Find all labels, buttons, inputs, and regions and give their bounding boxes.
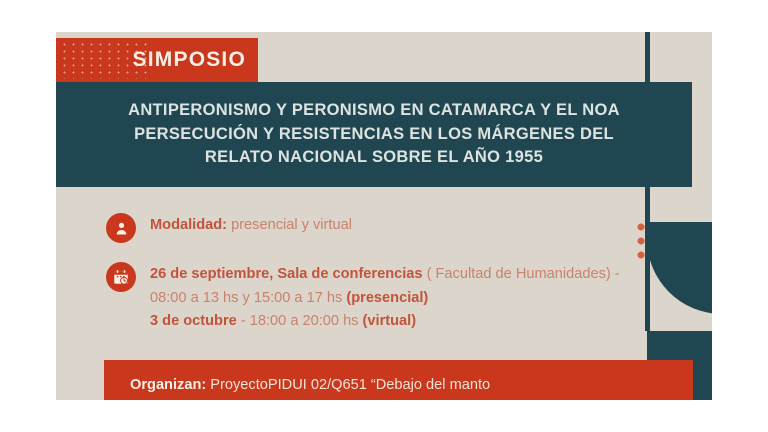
schedule-tag-1: (presencial) (346, 290, 428, 306)
organizers-banner: Organizan: ProyectoPIDUI 02/Q651 “Debajo… (104, 360, 693, 400)
modality-text: Modalidad: presencial y virtual (150, 212, 352, 238)
schedule-tag-2: (virtual) (363, 313, 417, 329)
schedule-text: 26 de septiembre, Sala de conferencias (… (150, 261, 626, 334)
modality-label: Modalidad: (150, 217, 227, 233)
simposio-label: SIMPOSIO (133, 48, 246, 72)
schedule-detail-2: - 18:00 a 20:00 hs (237, 313, 363, 329)
schedule-date-1: 26 de septiembre, Sala de conferencias (150, 266, 423, 282)
organizers-value: ProyectoPIDUI 02/Q651 “Debajo del manto (206, 377, 490, 393)
info-row-schedule: 26 de septiembre, Sala de conferencias (… (106, 261, 626, 334)
info-row-modality: Modalidad: presencial y virtual (106, 212, 626, 243)
organizers-label: Organizan: (130, 377, 206, 393)
quarter-circle-decoration (647, 222, 712, 314)
calendar-clock-icon (106, 262, 136, 292)
poster-canvas: SIMPOSIO ANTIPERONISMO Y PERONISMO EN CA… (56, 32, 712, 400)
person-icon (106, 213, 136, 243)
title-line-2: PERSECUCIÓN Y RESISTENCIAS EN LOS MÁRGEN… (128, 123, 620, 147)
simposio-banner: SIMPOSIO (56, 38, 258, 82)
title-line-1: ANTIPERONISMO Y PERONISMO EN CATAMARCA Y… (128, 99, 620, 123)
organizers-text: Organizan: ProyectoPIDUI 02/Q651 “Debajo… (130, 374, 670, 397)
info-list: Modalidad: presencial y virtual (106, 212, 626, 352)
modality-value: presencial y virtual (227, 217, 352, 233)
schedule-date-2: 3 de octubre (150, 313, 237, 329)
title-block: ANTIPERONISMO Y PERONISMO EN CATAMARCA Y… (56, 82, 692, 187)
title-line-3: RELATO NACIONAL SOBRE EL AÑO 1955 (128, 146, 620, 170)
page-title: ANTIPERONISMO Y PERONISMO EN CATAMARCA Y… (114, 99, 634, 171)
